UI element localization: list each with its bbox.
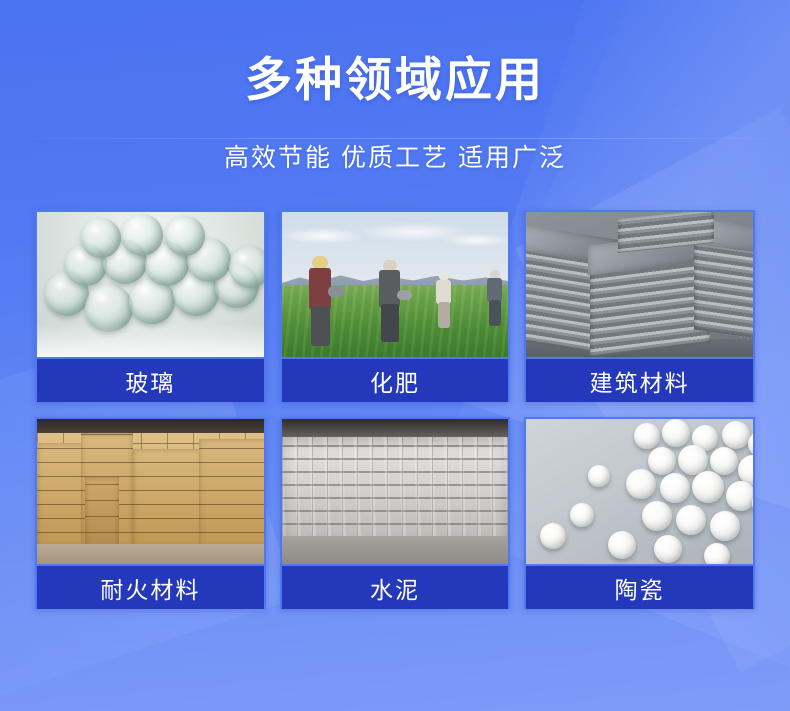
- application-card-building-materials[interactable]: 建筑材料: [524, 210, 755, 402]
- page-subtitle: 高效节能 优质工艺 适用广泛: [0, 138, 790, 174]
- application-card-ceramics[interactable]: 陶瓷: [524, 417, 755, 609]
- application-card-grid: 玻璃: [35, 210, 755, 609]
- glass-marbles-photo: [37, 212, 264, 357]
- application-card-cement[interactable]: 水泥: [280, 417, 511, 609]
- refractory-bricks-photo: [37, 419, 264, 564]
- application-card-fertilizer[interactable]: 化肥: [280, 210, 511, 402]
- card-label-glass: 玻璃: [37, 357, 264, 402]
- application-card-glass[interactable]: 玻璃: [35, 210, 266, 402]
- application-fields-banner: 多种领域应用 高效节能 优质工艺 适用广泛 玻璃: [0, 0, 790, 711]
- card-label-cement: 水泥: [282, 564, 509, 609]
- card-label-building-materials: 建筑材料: [526, 357, 753, 402]
- fertilizer-field-photo: [282, 212, 509, 357]
- page-title: 多种领域应用: [0, 52, 790, 108]
- cement-bags-photo: [282, 419, 509, 564]
- card-label-ceramics: 陶瓷: [526, 564, 753, 609]
- hero-section: 多种领域应用 高效节能 优质工艺 适用广泛: [0, 0, 790, 174]
- ceramic-balls-photo: [526, 419, 753, 564]
- building-panels-photo: [526, 212, 753, 357]
- application-card-refractory[interactable]: 耐火材料: [35, 417, 266, 609]
- card-label-fertilizer: 化肥: [282, 357, 509, 402]
- card-label-refractory: 耐火材料: [37, 564, 264, 609]
- surface-highlight: [37, 323, 264, 357]
